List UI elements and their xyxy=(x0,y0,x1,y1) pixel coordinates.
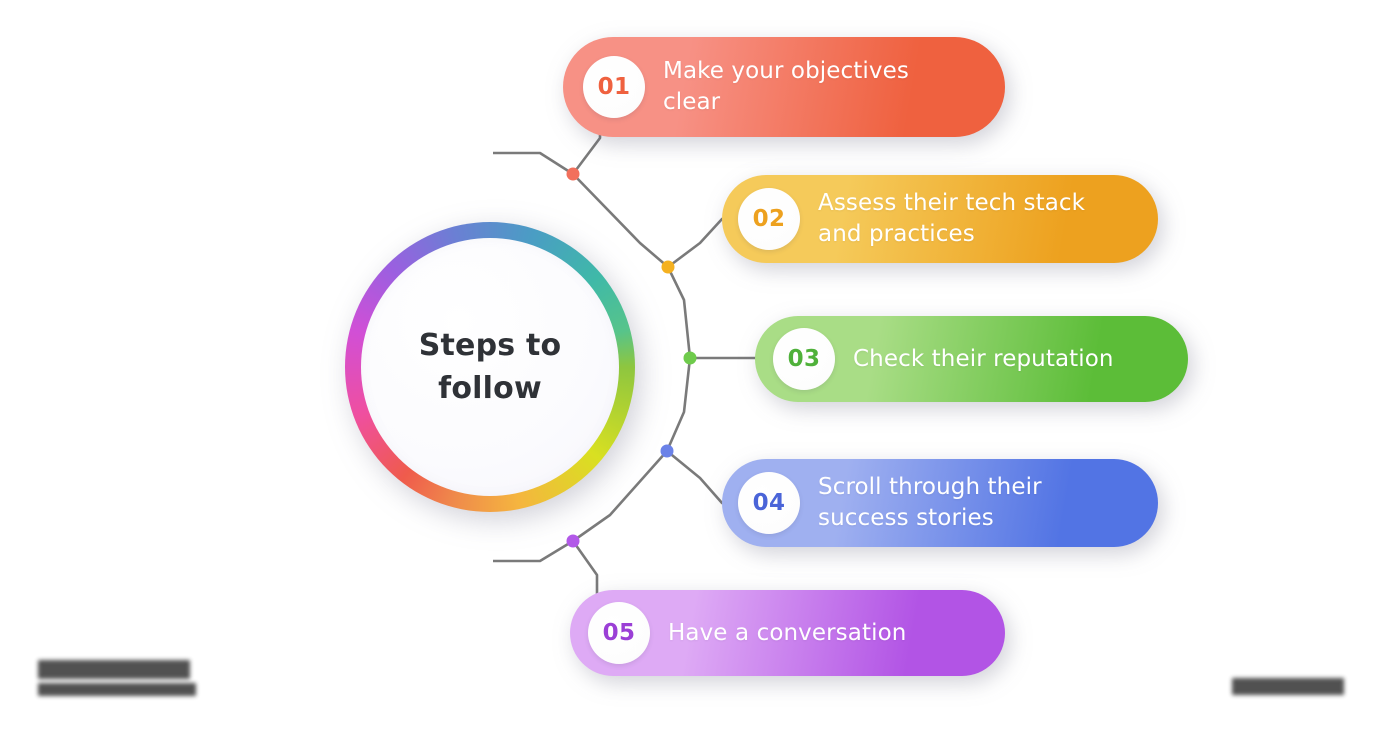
watermark-left-line-2 xyxy=(38,683,196,696)
step-number-3: 03 xyxy=(788,346,821,372)
step-badge-3: 03 xyxy=(773,328,835,390)
step-pill-3[interactable]: 03 Check their reputation xyxy=(755,316,1188,402)
junction-dot-4 xyxy=(661,445,674,458)
step-label-4-line-1: Scroll through their xyxy=(818,474,1042,500)
step-label-3-line-1: Check their reputation xyxy=(853,346,1114,372)
step-number-2: 02 xyxy=(753,206,786,232)
step-number-5: 05 xyxy=(603,620,636,646)
step-label-1: Make your objectives clear xyxy=(663,56,909,117)
step-badge-4: 04 xyxy=(738,472,800,534)
watermark-right-line-1 xyxy=(1232,678,1344,695)
step-number-4: 04 xyxy=(753,490,786,516)
connector-spine-mid-upper xyxy=(668,267,690,358)
junction-dot-3 xyxy=(684,352,697,365)
step-label-4: Scroll through their success stories xyxy=(818,472,1042,533)
watermark-right xyxy=(1232,678,1344,699)
junction-dot-5 xyxy=(567,535,580,548)
step-pill-4[interactable]: 04 Scroll through their success stories xyxy=(722,459,1158,547)
step-label-1-line-2: clear xyxy=(663,89,720,115)
connector-line-4 xyxy=(667,451,722,503)
step-label-2-line-1: Assess their tech stack xyxy=(818,190,1085,216)
step-label-4-line-2: success stories xyxy=(818,505,994,531)
step-pill-5[interactable]: 05 Have a conversation xyxy=(570,590,1005,676)
step-badge-1: 01 xyxy=(583,56,645,118)
central-hub-inner: Steps to follow xyxy=(361,238,619,496)
step-badge-5: 05 xyxy=(588,602,650,664)
watermark-left xyxy=(38,660,196,700)
hub-title-line-2: follow xyxy=(438,371,542,406)
junction-dot-2 xyxy=(662,261,675,274)
step-pill-1[interactable]: 01 Make your objectives clear xyxy=(563,37,1005,137)
watermark-left-line-1 xyxy=(38,660,190,679)
step-label-5: Have a conversation xyxy=(668,618,906,649)
step-label-2: Assess their tech stack and practices xyxy=(818,188,1085,249)
hub-title-line-1: Steps to xyxy=(419,328,562,363)
step-number-1: 01 xyxy=(598,74,631,100)
step-badge-2: 02 xyxy=(738,188,800,250)
step-label-3: Check their reputation xyxy=(853,344,1114,375)
connector-line-2 xyxy=(668,219,722,267)
infographic-canvas: Steps to follow 01 Make your objectives … xyxy=(0,0,1400,750)
junction-dot-1 xyxy=(567,168,580,181)
step-label-5-line-1: Have a conversation xyxy=(668,620,906,646)
central-hub: Steps to follow xyxy=(345,222,635,512)
step-pill-2[interactable]: 02 Assess their tech stack and practices xyxy=(722,175,1158,263)
connector-spine-upper xyxy=(573,174,668,267)
connector-spine-mid-lower xyxy=(667,358,690,451)
hub-title: Steps to follow xyxy=(419,324,562,411)
step-label-1-line-1: Make your objectives xyxy=(663,58,909,84)
step-label-2-line-2: and practices xyxy=(818,221,975,247)
